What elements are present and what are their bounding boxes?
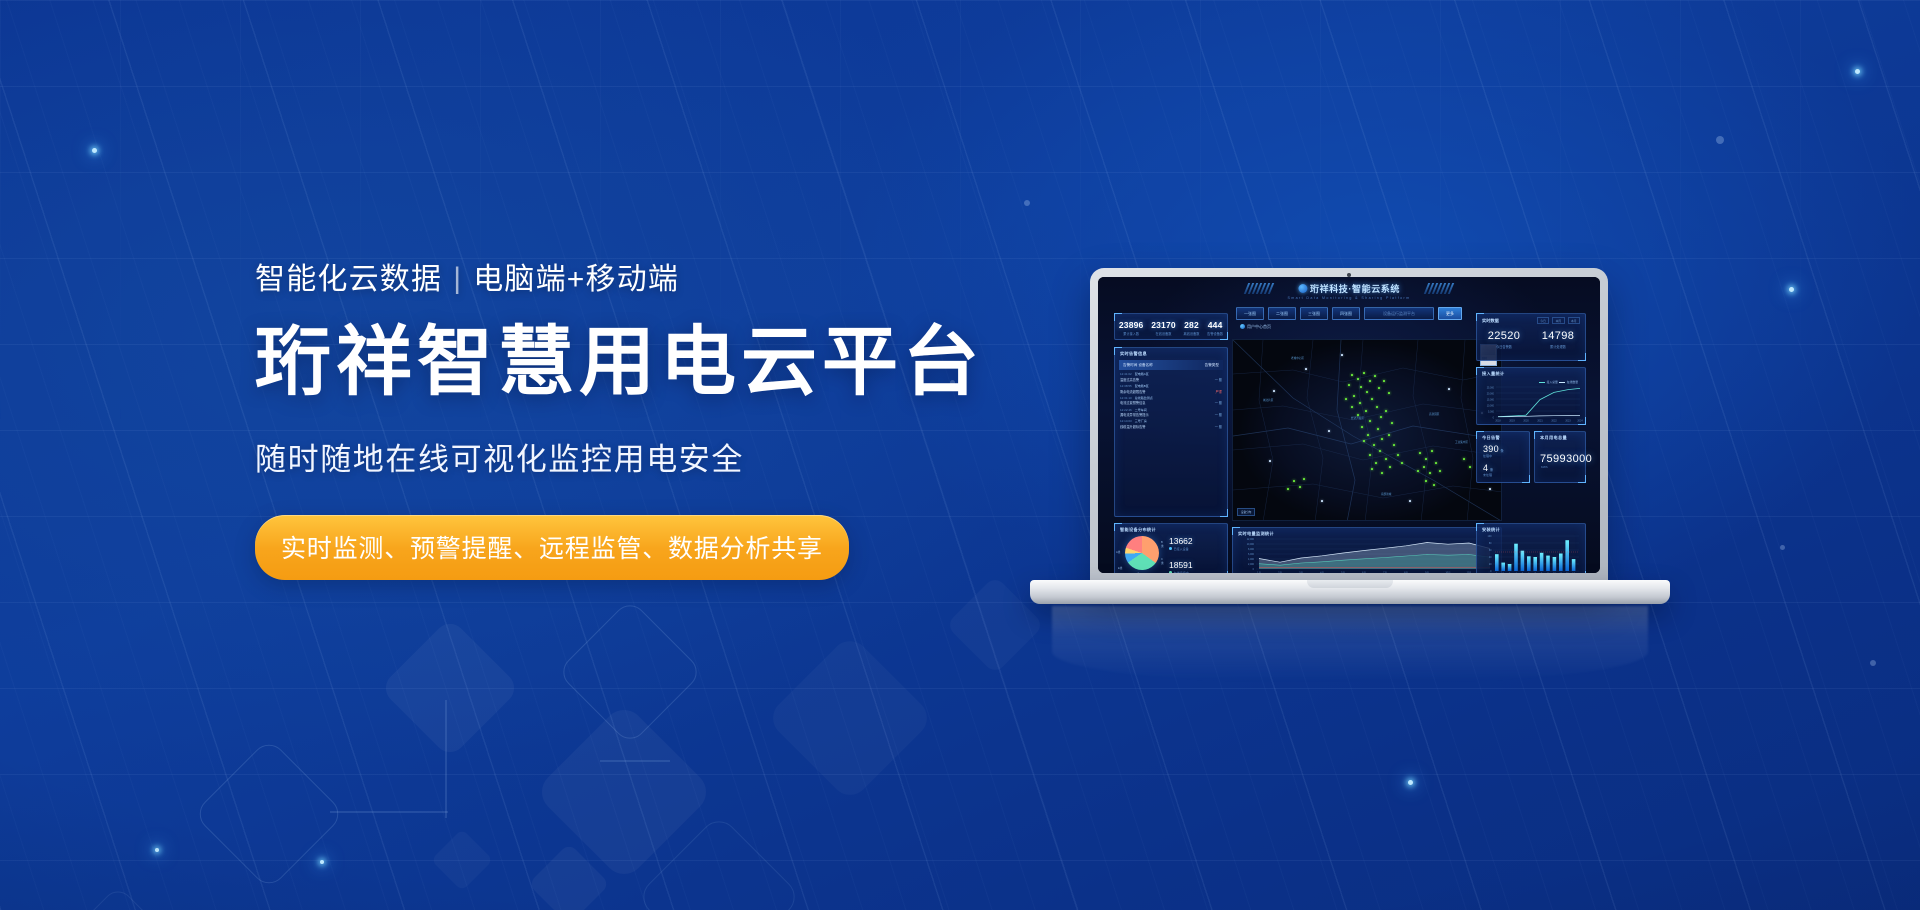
map-label: 城北片区 [1263,398,1273,402]
laptop-base [1030,580,1670,604]
trend-legend-0: 接入总量 [1547,380,1558,384]
kpi-label: 在线设备数 [1151,331,1176,336]
kpi-label: 告警设备数 [1207,331,1223,336]
alarm-unit-2: 条 [1490,468,1494,472]
svg-text:15,000: 15,000 [1487,398,1495,401]
alarm-row[interactable]: 12:31:10总线路监测点 电流过载预警信息一 般 [1115,394,1227,406]
glow-dot [1855,69,1860,74]
header-stripes-left [1246,283,1272,294]
metric-label: 今日告警数 [1488,344,1521,349]
pie-legend-0: A类 [1116,550,1120,554]
pie-legend-2: C类 [1161,558,1164,565]
kpi-3: 444 告警设备数 [1207,320,1223,336]
diamond-outline [556,598,703,745]
alarm-device: 三号厂房 [1135,419,1147,423]
realtime-panel-title: 实时数据 [1482,318,1499,324]
alarm-meta: 12:38:55配电箱B区 [1120,384,1222,388]
kpi-label: 离线设备数 [1184,331,1200,336]
diamond-shape [431,829,493,891]
alarm-text: 线缆温升超标告警 [1120,424,1146,429]
trend-panel-title: 接入量统计 [1477,368,1585,377]
today-alarm-value: 390条 [1477,441,1529,454]
dim-dot [1024,200,1030,206]
svg-text:5,000: 5,000 [1488,410,1495,413]
alarm-count-2: 4 [1483,463,1488,473]
alarm-meta: 12:41:02配电箱A区 [1120,372,1222,376]
nav-item-1[interactable]: 二张图 [1268,307,1296,320]
svg-text:2020: 2020 [1523,420,1529,423]
svg-text:10月: 10月 [1445,571,1450,574]
map-label: 高新园区 [1429,412,1439,416]
svg-text:5: 5 [1522,573,1524,574]
alarm-meta: 12:14:03三号厂房 [1120,419,1222,423]
map-roads [1233,340,1502,521]
realtime-panel: 实时数据 今日 本周 本月 22520 今日告警数 [1476,313,1586,361]
svg-text:8月: 8月 [1404,571,1408,574]
laptop-screen: 珩祥科技·智能云系统 Smart Data Monitoring & Shari… [1098,277,1600,573]
svg-text:100: 100 [1488,535,1493,538]
glow-dot [1408,780,1413,785]
alarm-time: 12:31:10 [1120,396,1132,400]
alarm-tag: 一 般 [1215,412,1222,417]
metric-value: 22520 [1488,330,1521,342]
alarm-text: 漏电流异常告警提示 [1120,412,1149,417]
kpi-strip: 23896 累计接入数 23170 在线设备数 282 离线设备数 444 [1114,313,1228,340]
today-alarm-title: 今日告警 [1477,432,1529,441]
trend-line-chart: 25,00020,000 15,00010,000 5,0000 2018201… [1480,385,1584,423]
svg-text:3: 3 [1509,573,1511,574]
energy-unit: KWh [1535,465,1585,469]
map-label: 经济开发区 [1351,416,1364,420]
alarm-tag: 一 般 [1215,377,1222,382]
kpi-0: 23896 累计接入数 [1119,320,1144,336]
alarm-time: 12:38:55 [1120,384,1132,388]
tab-month[interactable]: 本月 [1568,317,1580,324]
diamond-connector [445,700,447,818]
kpi-value: 282 [1184,320,1200,330]
banner-subtitle: 随时随地在线可视化监控用电安全 [255,434,1015,479]
device-map[interactable]: 城北片区 经济开发区 高新园区 工业集中区 老城中心区 南部新城 图例 设备分布 [1232,339,1502,521]
alarm-row[interactable]: 12:41:02配电箱A区 温度过高告警一 般 [1115,370,1227,382]
alarm-panel-title: 实时告警信息 [1115,348,1227,357]
alarm-list-header: 告警时间 设备名称 告警类型 [1119,360,1223,370]
brand-subtitle: Smart Data Monitoring & Sharing Platform [1287,296,1410,300]
kpi-label: 累计接入数 [1119,331,1144,336]
svg-text:9: 9 [1547,573,1549,574]
header-stripes-right [1426,283,1452,294]
svg-text:11月: 11月 [1467,571,1472,574]
device-value-0: 13662 [1169,536,1193,546]
svg-text:2021: 2021 [1537,420,1543,423]
svg-text:6月: 6月 [1362,571,1366,574]
realtime-metric: 14798 累计处理数 [1542,330,1575,349]
alarm-device: 总线路监测点 [1135,396,1153,400]
alarm-tag: 一 般 [1215,424,1222,429]
svg-text:60: 60 [1489,549,1492,552]
map-label: 工业集中区 [1455,440,1468,444]
banner-eyebrow: 智能化云数据|电脑端+移动端 [255,262,1015,298]
alarm-device: 配电箱B区 [1135,384,1149,388]
dashboard-header: 珩祥科技·智能云系统 Smart Data Monitoring & Shari… [1098,277,1600,307]
features-cta-button[interactable]: 实时监测、预警提醒、远程监管、数据分析共享 [255,515,849,580]
device-distribution-panel: 智能设备分布统计 A类 B类 C类 D类 E类 13662 已接入设备 [1114,523,1228,573]
kpi-value: 23170 [1151,320,1176,330]
glow-dot [1789,287,1794,292]
nav-item-2[interactable]: 三张图 [1300,307,1328,320]
kpi-1: 23170 在线设备数 [1151,320,1176,336]
pie-legend-4: E类 [1118,566,1122,570]
svg-text:6: 6 [1528,573,1530,574]
svg-text:7: 7 [1535,573,1537,574]
device-panel-title: 智能设备分布统计 [1115,524,1227,533]
alarm-list-panel: 实时告警信息 告警时间 设备名称 告警类型 12:41:02配电箱A区 温度过高… [1114,347,1228,517]
dim-dot [1716,136,1724,144]
dashboard: 珩祥科技·智能云系统 Smart Data Monitoring & Shari… [1098,277,1600,573]
promo-banner: 智能化云数据|电脑端+移动端 珩祥智慧用电云平台 随时随地在线可视化监控用电安全… [0,0,1920,910]
alarm-text: 电流过载预警信息 [1120,400,1146,405]
install-bar-chart: 10080 6040 200 [1481,533,1583,573]
svg-text:8,000: 8,000 [1248,548,1255,551]
user-center-link[interactable]: 用户中心首页 [1240,324,1271,330]
realtime-panel-header: 实时数据 今日 本周 本月 [1477,314,1585,324]
svg-text:2: 2 [1503,573,1505,574]
diamond-connector [330,811,448,813]
today-alarm-sub-2: 未处理 [1477,473,1529,477]
svg-text:2023: 2023 [1565,420,1571,423]
kpi-value: 444 [1207,320,1223,330]
alarm-tag: 严重 [1216,389,1222,394]
svg-text:1: 1 [1496,573,1498,574]
realtime-metric: 22520 今日告警数 [1488,330,1521,349]
pie-slices [1125,536,1159,570]
svg-text:8: 8 [1541,573,1543,574]
svg-text:12,000: 12,000 [1247,538,1255,541]
diamond-shape [765,633,935,803]
svg-text:40: 40 [1489,556,1492,559]
svg-text:20: 20 [1489,563,1492,566]
alarm-header-right: 告警类型 [1205,363,1219,368]
svg-text:10,000: 10,000 [1247,543,1255,546]
svg-text:10,000: 10,000 [1487,404,1495,407]
trend-legend: 接入总量 在线数量 [1539,380,1578,384]
svg-text:5月: 5月 [1341,571,1345,574]
pie-legend-1: B类 [1161,541,1164,548]
energy-panel-title: 本月用电总量 [1535,432,1585,441]
alarm-meta: 12:31:10总线路监测点 [1120,396,1222,400]
today-alarm-value-2: 4条 [1477,458,1529,473]
device-label-0: 已接入设备 [1169,547,1193,551]
dim-dot [1870,660,1876,666]
device-values: 13662 已接入设备 18591 在线运行中 [1169,536,1193,573]
alarm-unit: 条 [1500,449,1504,453]
eyebrow-right-text: 电脑端+移动端 [473,263,679,296]
alarm-time: 12:22:46 [1120,408,1132,412]
alarm-time: 12:41:02 [1120,372,1132,376]
svg-text:0: 0 [1490,570,1492,573]
svg-text:11: 11 [1560,573,1563,574]
map-badge: 设备分布 [1237,508,1255,516]
energy-value: 75993000 [1535,441,1585,465]
user-center-label: 用户中心首页 [1247,324,1271,329]
laptop-reflection [1052,606,1648,682]
svg-text:9月: 9月 [1425,571,1429,574]
alarm-text-row: 线缆温升超标告警一 般 [1120,424,1222,429]
dashboard-brand: 珩祥科技·智能云系统 Smart Data Monitoring & Shari… [1287,282,1410,300]
energy-area-chart: 12,00010,000 8,0006,000 4,0002,000 0 [1236,537,1498,573]
page-title: 珩祥智慧用电云平台 [255,322,1015,404]
laptop-lid: 珩祥科技·智能云系统 Smart Data Monitoring & Shari… [1090,268,1608,586]
metric-label: 累计处理数 [1542,344,1575,349]
tab-today[interactable]: 今日 [1537,317,1549,324]
kpi-value: 23896 [1119,320,1144,330]
metric-value: 14798 [1542,330,1575,342]
install-stats-panel: 安装统计 10080 6040 200 [1476,523,1586,573]
svg-text:13: 13 [1572,573,1575,574]
svg-text:2,000: 2,000 [1248,563,1255,566]
alarm-meta: 12:22:46二号车间 [1120,408,1222,412]
laptop-notch [1307,580,1393,588]
kpi-2: 282 离线设备数 [1184,320,1200,336]
svg-text:4,000: 4,000 [1248,558,1255,561]
svg-text:0: 0 [1253,568,1255,571]
dashboard-nav[interactable]: 一张图 二张图 三张图 四张图 设备运行监测平台 更多 [1236,307,1462,320]
alarm-text: 温度过高告警 [1120,377,1139,382]
trend-legend-1: 在线数量 [1567,380,1578,384]
alarm-count: 390 [1483,444,1499,454]
svg-text:2024: 2024 [1577,420,1583,423]
realtime-panel-body: 22520 今日告警数 14798 累计处理数 [1477,324,1585,349]
brand-logo-icon [1298,284,1307,293]
nav-item-0[interactable]: 一张图 [1236,307,1264,320]
svg-text:2022: 2022 [1551,420,1557,423]
eyebrow-left-text: 智能化云数据 [255,263,442,296]
realtime-energy-panel: 实时电量监测统计 12,00010,000 8,0006,000 [1232,527,1502,573]
area-panel-title: 实时电量监测统计 [1233,528,1501,537]
trend-panel: 接入量统计 接入总量 在线数量 [1476,367,1586,425]
laptop-mockup: 珩祥科技·智能云系统 Smart Data Monitoring & Shari… [1030,268,1670,668]
device-label-1: 在线运行中 [1169,571,1193,573]
today-alarm-panel: 今日告警 390条 处理中 4条 未处理 [1476,431,1530,483]
alarm-tag: 一 般 [1215,400,1222,405]
alarm-time: 12:14:03 [1120,419,1132,423]
brand-title: 珩祥科技·智能云系统 [1310,284,1400,294]
svg-text:25,000: 25,000 [1487,386,1495,389]
svg-text:4月: 4月 [1320,571,1324,574]
diamond-connector [600,760,670,762]
svg-text:10: 10 [1553,573,1556,574]
device-value-1: 18591 [1169,560,1193,570]
svg-text:2018: 2018 [1495,420,1501,423]
pie-legend-3: D类 [1135,572,1139,573]
bar-panel-title: 安装统计 [1477,524,1585,533]
eyebrow-divider: | [453,261,462,297]
svg-text:2月: 2月 [1278,571,1282,574]
glow-dot [155,848,159,852]
svg-text:4: 4 [1515,573,1517,574]
svg-text:12: 12 [1566,573,1569,574]
diamond-shape [379,617,520,758]
energy-panel: 本月用电总量 75993000 KWh [1534,431,1586,483]
svg-text:2019: 2019 [1509,420,1515,423]
alarm-device: 配电箱A区 [1135,372,1149,376]
diamond-outline [193,738,346,891]
device-pie-chart: A类 B类 C类 D类 E类 [1125,536,1159,570]
svg-text:6,000: 6,000 [1248,553,1255,556]
alarm-row[interactable]: 12:14:03三号厂房 线缆温升超标告警一 般 [1115,417,1227,429]
nav-item-3[interactable]: 四张图 [1332,307,1360,320]
alarm-row[interactable]: 12:38:55配电箱B区 剩余电流超限告警严重 [1115,382,1227,394]
svg-text:20,000: 20,000 [1487,392,1495,395]
dim-dot [1780,545,1785,550]
glow-dot [320,860,324,864]
alarm-header-left: 告警时间 设备名称 [1123,363,1153,368]
alarm-text: 剩余电流超限告警 [1120,389,1146,394]
svg-text:3月: 3月 [1299,571,1303,574]
tab-week[interactable]: 本周 [1552,317,1564,324]
nav-item-4[interactable]: 设备运行监测平台 [1364,307,1434,320]
map-label: 南部新城 [1381,492,1391,496]
svg-text:80: 80 [1489,542,1492,545]
nav-item-5[interactable]: 更多 [1438,307,1462,320]
map-label: 老城中心区 [1291,356,1304,360]
svg-text:1月: 1月 [1257,571,1261,574]
alarm-device: 二号车间 [1135,408,1147,412]
alarm-row[interactable]: 12:22:46二号车间 漏电流异常告警提示一 般 [1115,405,1227,417]
banner-copy: 智能化云数据|电脑端+移动端 珩祥智慧用电云平台 随时随地在线可视化监控用电安全… [255,262,1015,580]
user-icon [1240,324,1245,329]
glow-dot [92,148,97,153]
diamond-outline [50,885,186,910]
svg-text:7月: 7月 [1383,571,1387,574]
realtime-panel-tabs[interactable]: 今日 本周 本月 [1537,317,1580,324]
